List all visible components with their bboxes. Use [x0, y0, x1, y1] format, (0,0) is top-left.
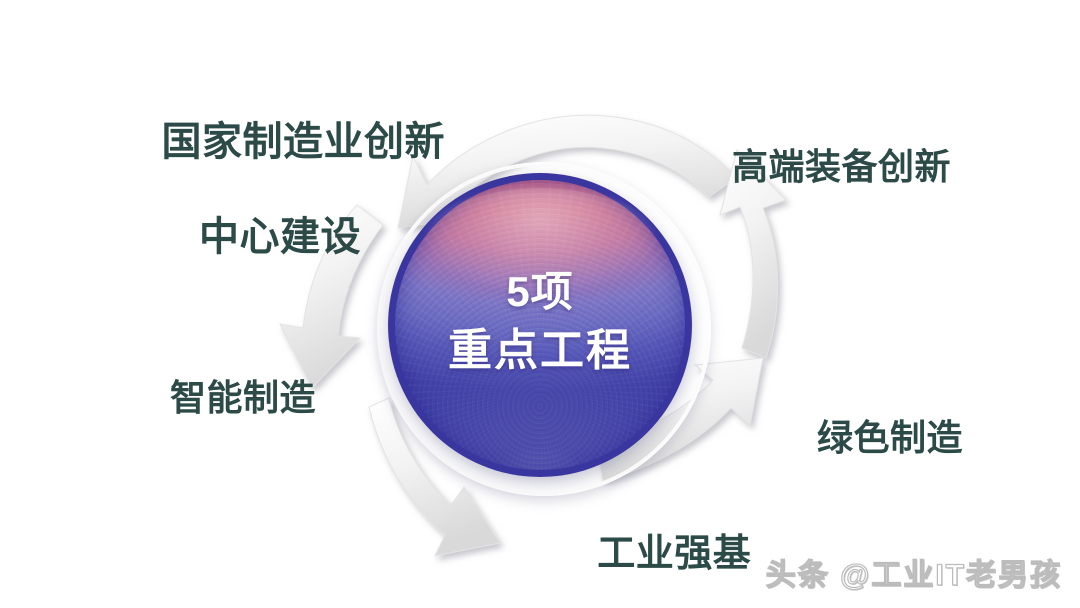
watermark: 头条 @工业IT老男孩 — [766, 550, 1062, 594]
diagram-canvas: 5项 重点工程 国家制造业创新 中心建设 高端装备创新 智能制造 绿色制造 工业… — [0, 0, 1080, 608]
label-smart-manufacturing: 智能制造 — [128, 335, 358, 462]
label-industrial-base: 工业强基 — [553, 487, 783, 608]
sphere-highlight — [424, 188, 655, 291]
label-high-end-equipment: 高端装备创新 — [690, 104, 980, 231]
label-smart-manufacturing-line-1: 智能制造 — [170, 377, 316, 418]
label-innovation-center-line-1: 国家制造业创新 — [161, 120, 445, 164]
label-innovation-center: 国家制造业创新 中心建设 — [110, 72, 450, 355]
label-green-manufacturing: 绿色制造 — [775, 375, 1005, 502]
label-green-manufacturing-line-1: 绿色制造 — [817, 417, 963, 458]
label-high-end-equipment-line-1: 高端装备创新 — [732, 146, 951, 187]
label-innovation-center-line-2: 中心建设 — [110, 214, 450, 261]
label-industrial-base-line-1: 工业强基 — [597, 533, 751, 575]
